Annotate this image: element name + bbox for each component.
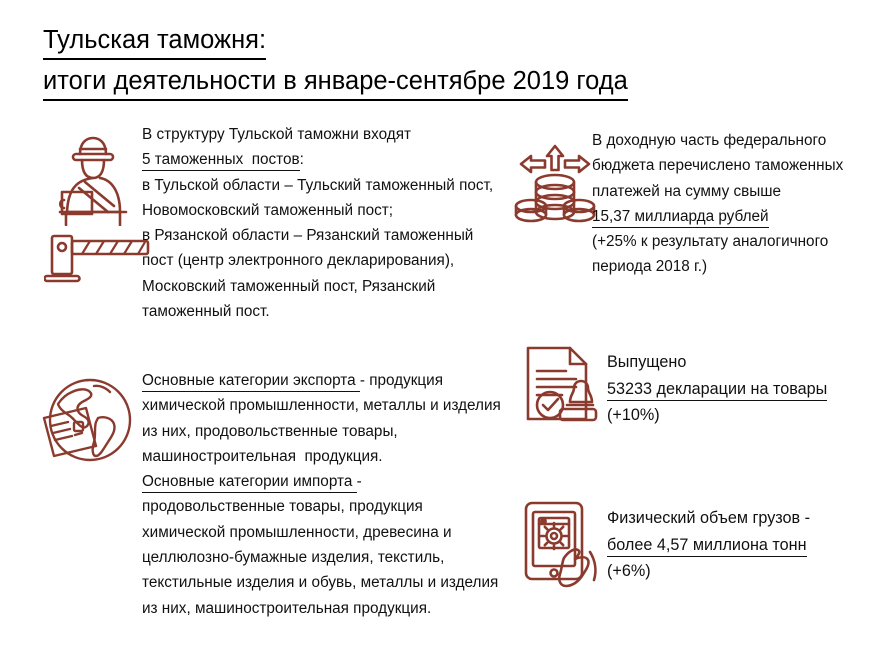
tablet-gear-hand-icon [520,498,604,593]
declarations-text-block: Выпущено 53233 декларации на товары (+10… [607,349,886,429]
structure-text-block: В структуру Тульской таможни входят 5 та… [142,122,502,324]
declarations-lead: Выпущено [607,353,691,371]
categories-text-block: Основные категории экспорта - продукция … [142,368,508,621]
cargo-note: (+6%) [607,558,886,585]
declarations-paragraph: Выпущено 53233 декларации на товары [607,349,886,402]
declarations-note: (+10%) [607,402,886,429]
page-title: Тульская таможня: итоги деятельности в я… [43,24,743,101]
globe-document-icon [34,372,142,479]
cargo-amount: более 4,57 миллиона тонн [607,535,807,557]
budget-note: (+25% к результату аналогичного периода … [592,229,882,280]
import-paragraph: Основные категории импорта - продовольст… [142,469,508,621]
cargo-text-block: Физический объем грузов - более 4,57 мил… [607,505,886,585]
import-body: - продовольственные товары, продукция хи… [142,473,503,616]
cargo-lead: Физический объем грузов - [607,509,815,527]
title-line-1: Тульская таможня: [43,24,266,60]
declaration-stamp-icon [522,343,598,434]
import-label: Основные категории импорта [142,471,357,493]
cargo-paragraph: Физический объем грузов - более 4,57 мил… [607,505,886,558]
coins-arrows-icon [513,142,597,237]
boom-barrier-icon [44,230,152,289]
structure-intro: В структуру Тульской таможни входят [142,122,502,147]
title-line-2: итоги деятельности в январе-сентябре 201… [43,65,628,101]
export-paragraph: Основные категории экспорта - продукция … [142,368,508,469]
budget-text-block: В доходную часть федерального бюджета пе… [592,128,882,280]
structure-posts-count: 5 таможенных постов [142,149,300,171]
structure-body: в Тульской области – Тульский таможенный… [142,173,502,325]
budget-lead: В доходную часть федерального бюджета пе… [592,132,847,200]
structure-highlight-line: 5 таможенных постов: [142,147,502,172]
structure-colon: : [300,151,304,168]
declarations-count: 53233 декларации на товары [607,379,827,401]
customs-officer-icon [52,130,132,231]
export-label: Основные категории экспорта [142,370,360,392]
budget-paragraph: В доходную часть федерального бюджета пе… [592,128,882,229]
budget-amount: 15,37 миллиарда рублей [592,206,769,228]
